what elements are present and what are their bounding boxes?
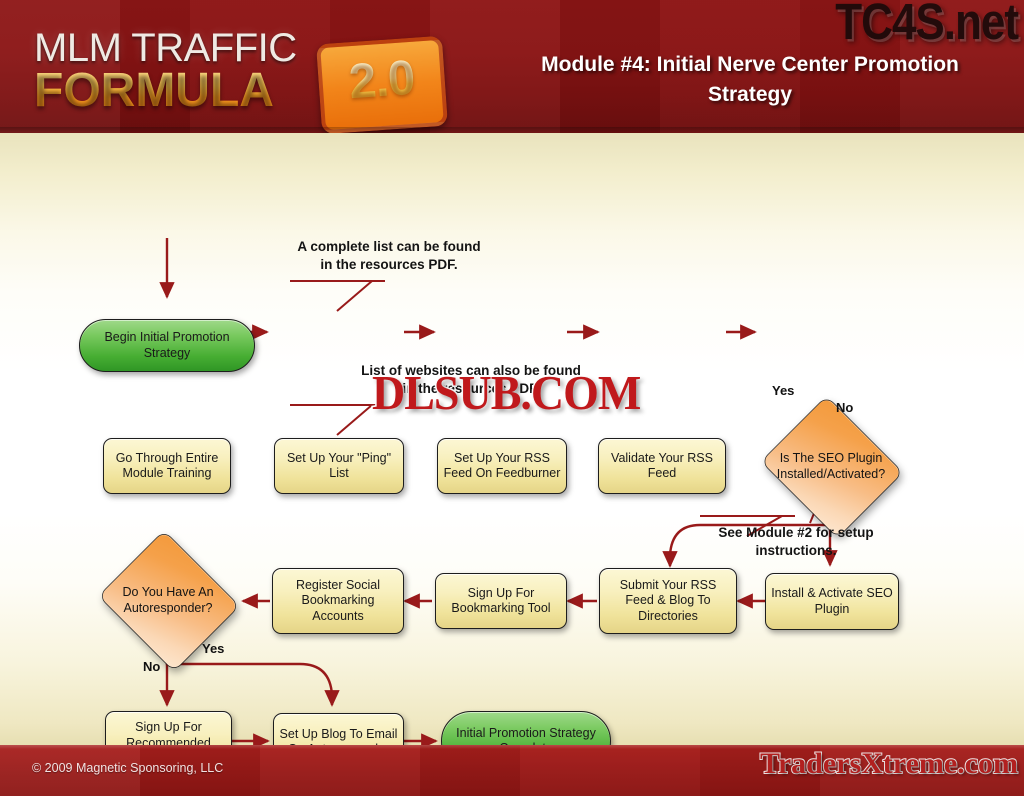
edge-label-ar-no: No xyxy=(143,659,160,674)
page-title: Module #4: Initial Nerve Center Promotio… xyxy=(500,50,1000,110)
node-module-training-label: Go Through Entire Module Training xyxy=(104,451,230,482)
node-validate-rss-label: Validate Your RSS Feed xyxy=(599,451,725,482)
node-module-training[interactable]: Go Through Entire Module Training xyxy=(103,438,231,494)
node-bookmarking-tool[interactable]: Sign Up For Bookmarking Tool xyxy=(435,573,567,629)
copyright-text: © 2009 Magnetic Sponsoring, LLC xyxy=(32,761,223,775)
tc4s-watermark: TC4S.net xyxy=(835,0,1018,52)
page-footer: © 2009 Magnetic Sponsoring, LLC TradersX… xyxy=(0,745,1024,796)
page-header: MLM TRAFFIC FORMULA 2.0 Module #4: Initi… xyxy=(0,0,1024,133)
node-validate-rss[interactable]: Validate Your RSS Feed xyxy=(598,438,726,494)
logo-line-2: FORMULA xyxy=(34,63,274,118)
logo-version-badge: 2.0 xyxy=(316,36,448,133)
slide-page: MLM TRAFFIC FORMULA 2.0 Module #4: Initi… xyxy=(0,0,1024,796)
brand-logo: MLM TRAFFIC FORMULA 2.0 xyxy=(28,26,438,116)
edge-label-seo-yes: Yes xyxy=(772,383,794,398)
annotation-seo-module-line1: See Module #2 for setup xyxy=(670,524,922,542)
node-begin[interactable]: Begin Initial Promotion Strategy xyxy=(79,319,255,372)
dlsub-watermark: DLSUB.COM xyxy=(372,364,640,420)
annotation-ping-list: A complete list can be found in the reso… xyxy=(245,238,533,274)
edge-label-seo-no: No xyxy=(836,400,853,415)
node-ping-list[interactable]: Set Up Your "Ping" List xyxy=(274,438,404,494)
node-ping-list-label: Set Up Your "Ping" List xyxy=(275,451,403,482)
node-blog-to-email[interactable]: Set Up Blog To Email On Autoresponder xyxy=(273,713,404,745)
node-feedburner-label: Set Up Your RSS Feed On Feedburner xyxy=(438,451,566,482)
node-install-seo-label: Install & Activate SEO Plugin xyxy=(766,586,898,617)
node-register-social[interactable]: Register Social Bookmarking Accounts xyxy=(272,568,404,634)
annotation-seo-module-line2: instructions. xyxy=(670,542,922,560)
annotation-ping-list-line1: A complete list can be found xyxy=(245,238,533,256)
node-seo-decision-label: Is The SEO Plugin Installed/Activated? xyxy=(755,450,907,482)
node-complete[interactable]: Initial Promotion Strategy Complete xyxy=(441,711,611,745)
annotation-seo-module: See Module #2 for setup instructions. xyxy=(670,524,922,560)
node-begin-label: Begin Initial Promotion Strategy xyxy=(80,330,254,361)
node-register-social-label: Register Social Bookmarking Accounts xyxy=(273,578,403,625)
node-submit-rss-label: Submit Your RSS Feed & Blog To Directori… xyxy=(600,578,736,625)
node-blog-to-email-label: Set Up Blog To Email On Autoresponder xyxy=(274,727,403,746)
node-install-seo[interactable]: Install & Activate SEO Plugin xyxy=(765,573,899,630)
node-signup-autoresponder-label: Sign Up For Recommended Autoresponder xyxy=(106,720,231,745)
logo-version-text: 2.0 xyxy=(321,48,443,112)
node-autoresponder-decision-label: Do You Have An Autoresponder? xyxy=(93,584,243,616)
tradersxtreme-watermark: TradersXtreme.com xyxy=(760,747,1018,781)
node-seo-decision[interactable]: Is The SEO Plugin Installed/Activated? xyxy=(755,401,907,531)
node-complete-label: Initial Promotion Strategy Complete xyxy=(442,726,610,746)
node-bookmarking-tool-label: Sign Up For Bookmarking Tool xyxy=(436,586,566,617)
node-signup-autoresponder[interactable]: Sign Up For Recommended Autoresponder xyxy=(105,711,232,745)
node-feedburner[interactable]: Set Up Your RSS Feed On Feedburner xyxy=(437,438,567,494)
diagram-canvas: Begin Initial Promotion Strategy Go Thro… xyxy=(0,133,1024,745)
edge-label-ar-yes: Yes xyxy=(202,641,224,656)
annotation-ping-list-line2: in the resources PDF. xyxy=(245,256,533,274)
node-submit-rss[interactable]: Submit Your RSS Feed & Blog To Directori… xyxy=(599,568,737,634)
